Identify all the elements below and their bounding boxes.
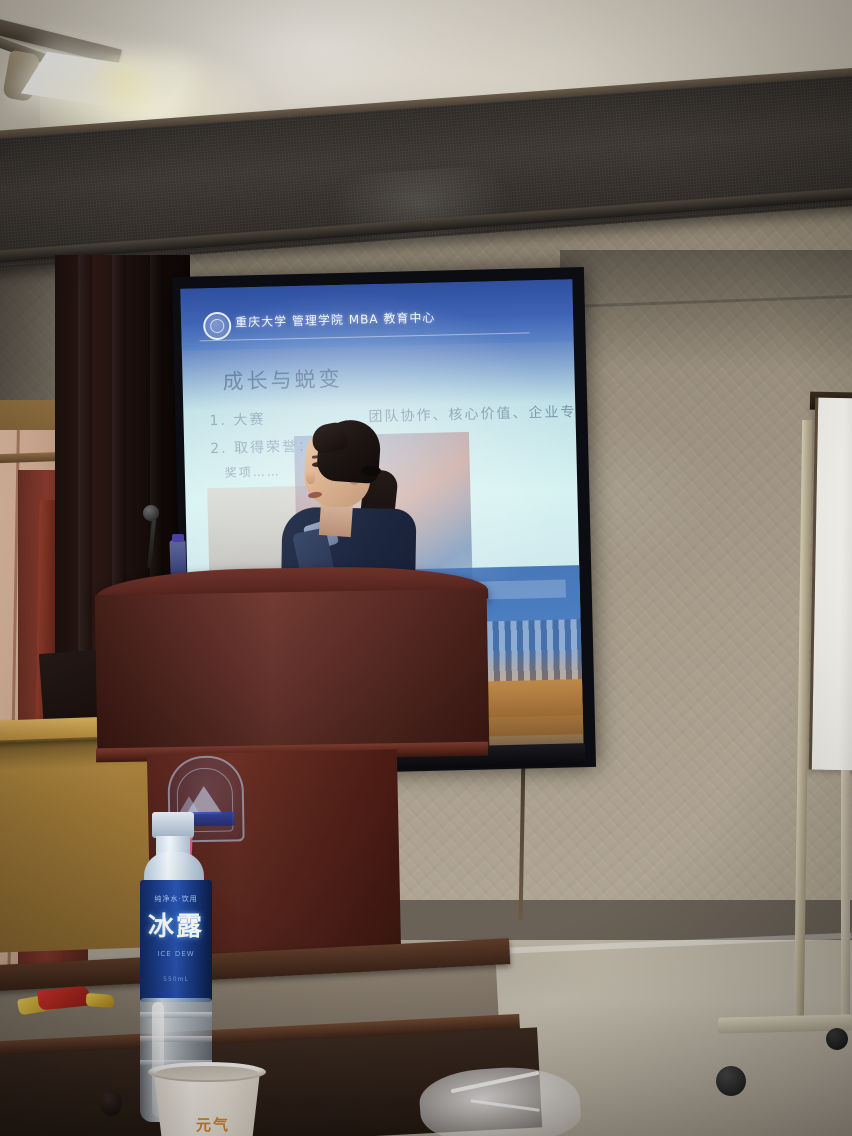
bottle-brand-sub: ICE DEW [140,950,212,958]
speaker-nose [306,470,315,484]
bottle-cap [152,812,194,838]
bottle-rib [140,1012,212,1018]
paper-cup-interior [156,1066,258,1080]
bottle-label-small-text: 纯净水·饮用 [148,894,204,904]
slide-bullet-right: 团队协作、核心价值、企业专家认可 [368,400,583,426]
whiteboard-caster-wheel [716,1066,746,1096]
podium-water-bottle [169,540,186,575]
paper-cup: 元气 [148,1062,266,1136]
bottle-label: 纯净水·饮用 冰露 ICE DEW 550mL [140,880,212,1002]
slide-title: 成长与蜕变 [222,363,343,396]
slide-bullet-3: 奖项…… [225,462,281,480]
speaker-hair-tie [361,466,381,476]
photo-scene: 重庆大学 管理学院 MBA 教育中心 成长与蜕变 1. 大赛 团队协作、核心价值… [0,0,852,1136]
candy-wrapper-gold-2 [86,993,115,1008]
beam-reflection [327,164,512,256]
podium-shading [95,589,490,756]
microphone-icon [143,505,159,521]
light-hotspot [85,55,165,115]
bottle-brand-name: 冰露 [140,906,212,943]
whiteboard-caster-wheel-2 [826,1028,848,1050]
podium-water-bottle-cap [172,534,184,542]
whiteboard [809,398,852,771]
small-dark-object [100,1090,122,1116]
wall-shadow-upper [560,250,852,370]
bottle-volume: 550mL [140,976,212,983]
whiteboard-post-right [841,770,850,1030]
bottle-rib [140,1036,212,1042]
paper-cup-text: 元气 [160,1114,266,1135]
slide-bullet-1: 1. 大赛 [209,409,265,430]
